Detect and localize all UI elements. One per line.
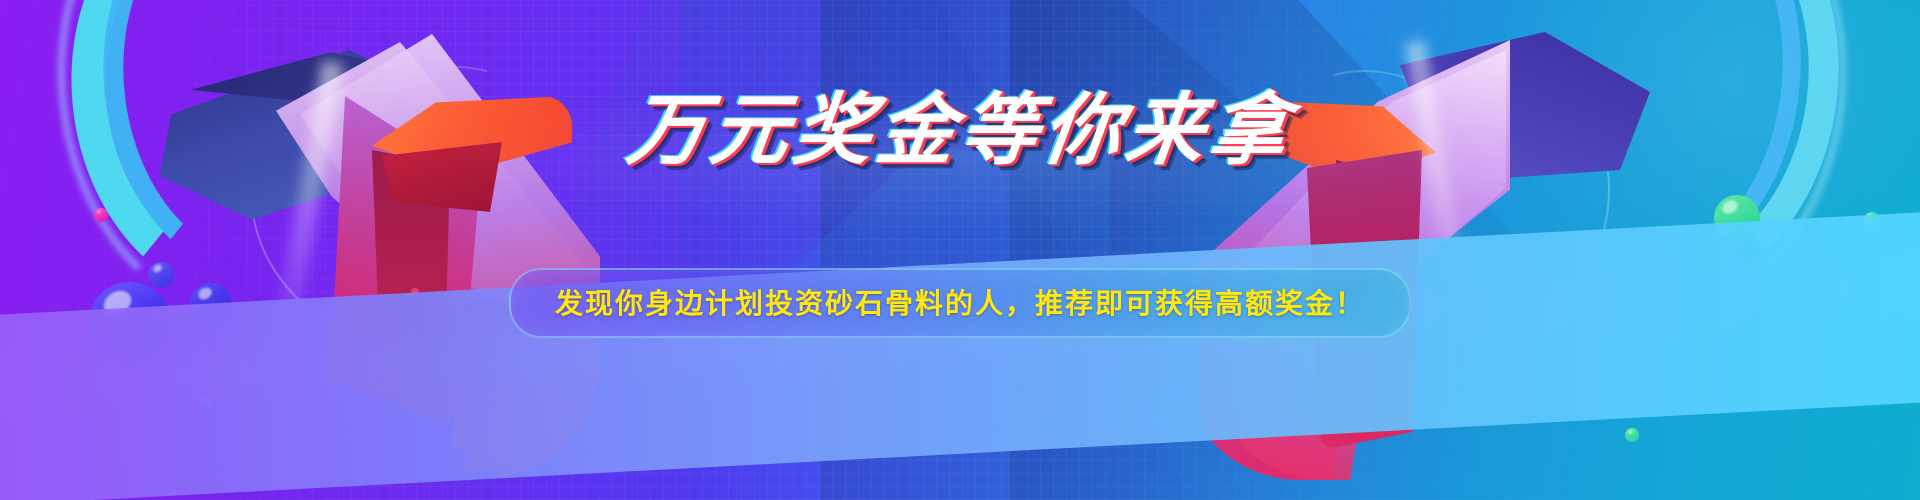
subheadline-pill: 发现你身边计划投资砂石骨料的人，推荐即可获得高额奖金！ [509,268,1411,338]
sphere-pink-small [94,208,108,222]
headline-text: 万元奖金等你来拿 [623,92,1297,170]
sphere-green-tiny [1625,428,1639,442]
headline-container: 万元奖金等你来拿 [0,92,1920,170]
subheadline-container: 发现你身边计划投资砂石骨料的人，推荐即可获得高额奖金！ [0,268,1920,338]
promo-banner: 万元奖金等你来拿 发现你身边计划投资砂石骨料的人，推荐即可获得高额奖金！ [0,0,1920,500]
subheadline-text: 发现你身边计划投资砂石骨料的人，推荐即可获得高额奖金！ [555,287,1365,320]
